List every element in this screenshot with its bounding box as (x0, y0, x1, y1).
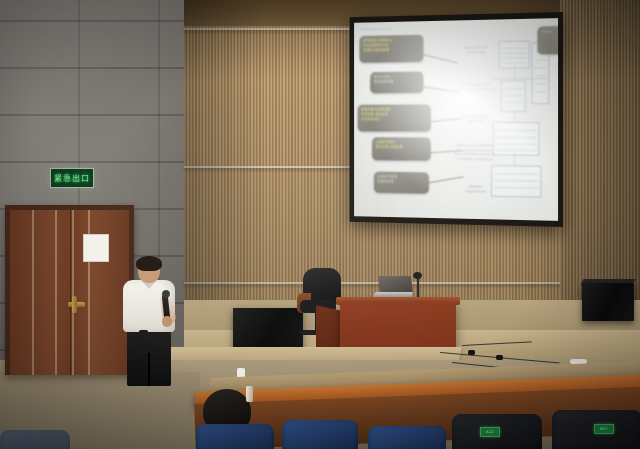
audience-seat-1 (196, 424, 274, 449)
slide-flow-label-2: Input Strategy Group Source of Research … (453, 83, 499, 92)
slide-content: Framework Overview 研究背景与问题提出 行业发展现状分析 关键… (354, 18, 558, 221)
slide-flow-connector-3 (514, 154, 515, 166)
emergency-exit-sign-label: 紧急出口 (54, 173, 90, 184)
audience-seat-3 (368, 426, 446, 449)
audience-seat-2 (282, 420, 358, 449)
slide-title: Framework Overview (361, 27, 391, 31)
presenter (118, 258, 180, 386)
audience-seat-edge (0, 430, 70, 449)
podium-gooseneck-mic-stem (417, 276, 419, 298)
presenter-right-hand (162, 316, 172, 327)
slide-callout-2: 核心方法论 模型构建思路 (370, 72, 423, 94)
slide-callout-5: 未来研究展望 局限性说明 (374, 172, 429, 194)
slide-flow-connector-2 (514, 110, 515, 122)
presentation-clicker (139, 330, 148, 335)
slide-callout-4: 主要研究结论 理论贡献 实践价值 (372, 137, 431, 161)
desk-water-bottle (246, 386, 253, 402)
podium-gooseneck-mic-head (413, 272, 422, 279)
slide-flow-label-3: Data Strategy Set Key Factors (455, 114, 497, 123)
door-posted-notice (83, 234, 109, 262)
slide-corner-badge: Output (537, 26, 558, 54)
projection-screen-surface: Framework Overview 研究背景与问题提出 行业发展现状分析 关键… (354, 18, 558, 221)
auditorium-photo-scene: Framework Overview 研究背景与问题提出 行业发展现状分析 关键… (0, 0, 640, 449)
cable-connector-2 (496, 355, 503, 360)
slide-flow-box-4 (493, 122, 539, 156)
presenter-hair (136, 256, 162, 271)
door-panels (10, 210, 129, 375)
door-handle-vertical (72, 296, 77, 313)
audience-seat-tag-1: A12 (480, 427, 500, 437)
door-center-seam (70, 210, 72, 375)
slide-callout-3: 数据采集与处理流程 样本选取 指标体系 实证检验设计 (358, 104, 431, 131)
emergency-exit-sign: 紧急出口 (50, 168, 94, 188)
slide-callout-1: 研究背景与问题提出 行业发展现状分析 关键技术路线梳理 (359, 35, 423, 63)
presenter-leg-separation (148, 353, 150, 386)
slide-flow-box-1 (499, 41, 530, 69)
stage-loudspeaker-right (582, 283, 634, 321)
projection-screen: Framework Overview 研究背景与问题提出 行业发展现状分析 关键… (350, 12, 563, 227)
slide-flow-box-3 (501, 80, 526, 112)
cable-connector-1 (468, 350, 475, 355)
slide-flow-label-1: Author Data Set for MIS Data (455, 45, 497, 55)
slide-flow-box-5 (491, 165, 541, 197)
handheld-microphone-head (162, 290, 170, 298)
audience-seat-tag-2: B07 (594, 424, 614, 434)
auditorium-double-door (5, 205, 134, 375)
